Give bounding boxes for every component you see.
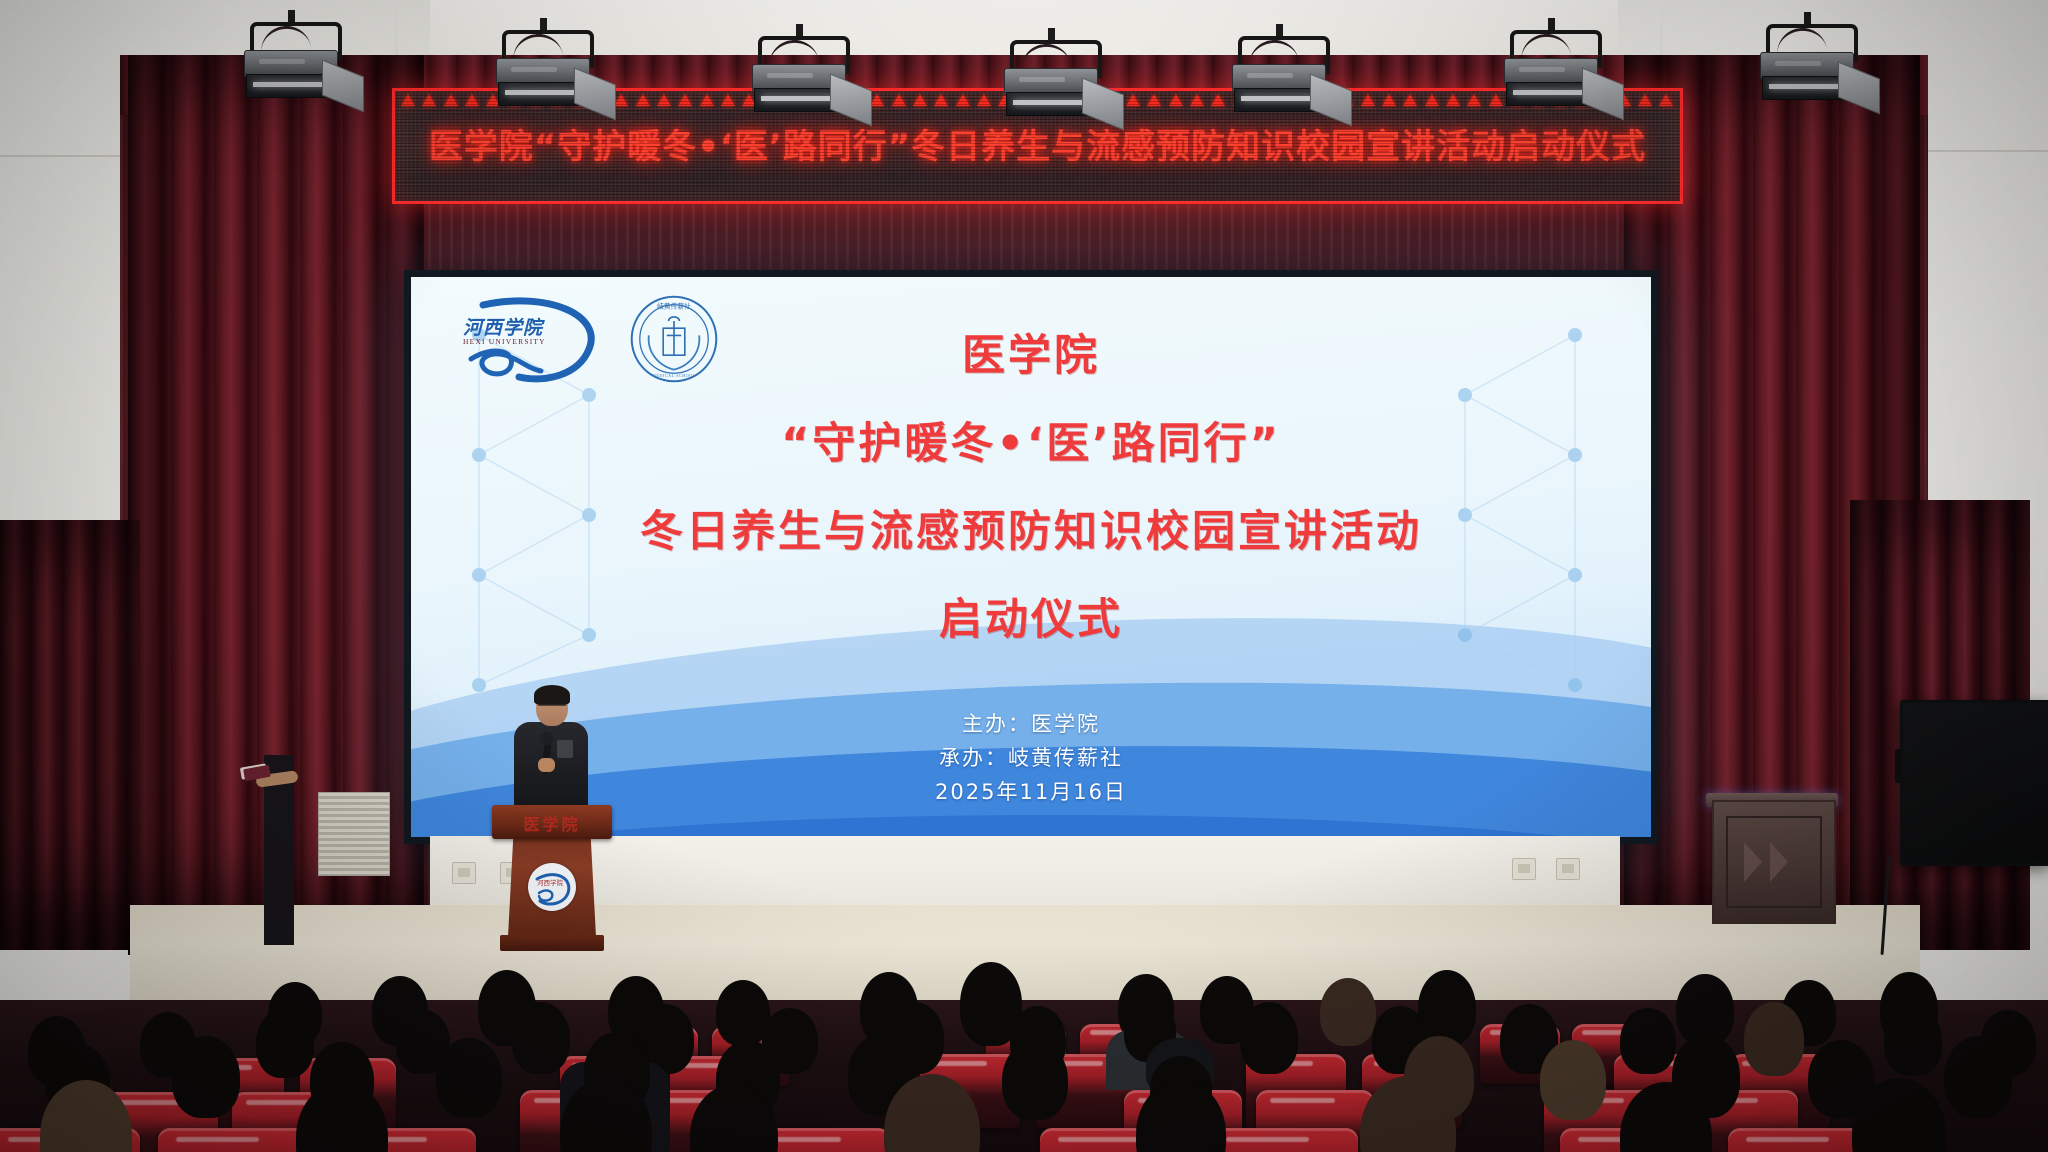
slide-title-block: 医学院 “守护暖冬•‘医’路同行” 冬日养生与流感预防知识校园宣讲活动 启动仪式 (411, 321, 1651, 647)
audience-head (1620, 1008, 1676, 1074)
audience-head (172, 1036, 240, 1118)
slide-title-line-4: 启动仪式 (411, 585, 1651, 647)
speaker-person (512, 688, 590, 810)
podium-front-text: 医学院 (492, 811, 612, 835)
audience-head (436, 1038, 502, 1118)
svg-text:岐黄传薪社: 岐黄传薪社 (657, 301, 691, 310)
audience-head (1240, 1002, 1298, 1074)
slide-date: 2025年11月16日 (411, 775, 1651, 809)
stage-curtain-far-left (0, 520, 140, 950)
projection-screen: 河西学院 HEXI UNIVERSITY 岐黄传薪社 MEDICAL SCHOO… (411, 277, 1651, 837)
audience-head (1540, 1040, 1606, 1120)
auditorium-scene: 医学院“守护暖冬•‘医’路同行”冬日养生与流感预防知识校园宣讲活动启动仪式 (0, 0, 2048, 1152)
bystander-person (258, 715, 298, 945)
slide-organizer: 主办：医学院 (411, 707, 1651, 741)
audience-head (256, 1008, 314, 1078)
wall-outlet-1 (452, 862, 476, 884)
audience-head (1744, 1002, 1804, 1076)
stage-light-2 (496, 30, 592, 104)
podium: 医学院 河西学院 (500, 805, 604, 950)
eyeglasses-icon (538, 704, 566, 713)
stage-light-3 (752, 36, 848, 110)
slide-footer-block: 主办：医学院 承办：岐黄传薪社 2025年11月16日 (411, 707, 1651, 809)
audience-head (1944, 1036, 2012, 1118)
stage-side-railing (1712, 800, 1836, 924)
stage-light-1 (244, 22, 340, 96)
stage-light-5 (1232, 36, 1328, 110)
slide-title-line-1: 医学院 (411, 321, 1651, 383)
air-vent-grille (318, 792, 390, 876)
projection-screen-frame: 河西学院 HEXI UNIVERSITY 岐黄传薪社 MEDICAL SCHOO… (404, 270, 1658, 844)
wall-outlet-5 (1556, 858, 1580, 880)
slide-title-line-2: “守护暖冬•‘医’路同行” (411, 409, 1651, 471)
slide-coorganizer: 承办：岐黄传薪社 (411, 741, 1651, 775)
podium-emblem-icon: 河西学院 (528, 863, 576, 911)
audience-head (1002, 1040, 1068, 1120)
led-banner-text: 医学院“守护暖冬•‘医’路同行”冬日养生与流感预防知识校园宣讲活动启动仪式 (395, 119, 1680, 168)
audience-head (512, 1002, 570, 1074)
seat (1208, 1128, 1358, 1152)
svg-text:河西学院: 河西学院 (537, 878, 564, 887)
audience-head (1884, 1006, 1942, 1076)
stage-light-4 (1004, 40, 1100, 114)
seat (158, 1128, 308, 1152)
wall-mounted-display[interactable] (1900, 700, 2048, 866)
audience-area (0, 1000, 2048, 1152)
wall-outlet-4 (1512, 858, 1536, 880)
stage-light-6 (1504, 30, 1600, 104)
stage-back-wall (430, 836, 1620, 912)
audience-head (1320, 978, 1376, 1046)
slide-title-line-3: 冬日养生与流感预防知识校园宣讲活动 (411, 497, 1651, 559)
stage-light-7 (1760, 24, 1856, 98)
